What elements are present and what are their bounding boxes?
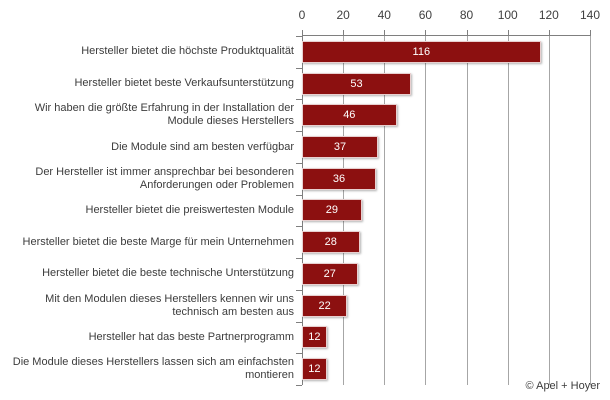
- category-label: Der Hersteller ist immer ansprechbar bei…: [6, 163, 294, 195]
- bar-row: Hersteller bietet die höchste Produktqua…: [0, 36, 610, 68]
- bar-row: Hersteller hat das beste Partnerprogramm…: [0, 322, 610, 354]
- bar-row: Wir haben die größte Erfahrung in der In…: [0, 99, 610, 131]
- category-label: Hersteller bietet beste Verkaufsunterstü…: [6, 68, 294, 100]
- bar-value-label: 28: [325, 236, 337, 248]
- category-label-text: Der Hersteller ist immer ansprechbar bei…: [6, 166, 294, 192]
- x-tick-label: 140: [580, 8, 600, 22]
- bar-row: Hersteller bietet die preiswertesten Mod…: [0, 195, 610, 227]
- bar-value-label: 53: [350, 78, 362, 90]
- category-label-text: Hersteller bietet die beste technische U…: [42, 267, 294, 280]
- x-tick-label: 100: [498, 8, 518, 22]
- bar-value-label: 116: [413, 46, 431, 58]
- category-label: Hersteller bietet die höchste Produktqua…: [6, 36, 294, 68]
- bar-row: Hersteller bietet die beste technische U…: [0, 258, 610, 290]
- category-label: Wir haben die größte Erfahrung in der In…: [6, 99, 294, 131]
- bar-row: Die Module sind am besten verfügbar37: [0, 131, 610, 163]
- bar-chart: 020406080100120140 Hersteller bietet die…: [0, 0, 610, 400]
- bar-value-label: 37: [334, 141, 346, 153]
- category-label: Die Module sind am besten verfügbar: [6, 131, 294, 163]
- x-tick-label: 120: [539, 8, 559, 22]
- bar-value-label: 22: [319, 300, 331, 312]
- category-label: Hersteller bietet die preiswertesten Mod…: [6, 195, 294, 227]
- credit-text: © Apel + Hoyer: [526, 380, 600, 392]
- category-label: Hersteller hat das beste Partnerprogramm: [6, 322, 294, 354]
- x-tick-label: 0: [299, 8, 306, 22]
- bar-row: Mit den Modulen dieses Herstellers kenne…: [0, 290, 610, 322]
- category-label-text: Hersteller hat das beste Partnerprogramm: [89, 331, 294, 344]
- x-tick-label: 20: [336, 8, 349, 22]
- category-label-text: Hersteller bietet beste Verkaufsunterstü…: [74, 77, 294, 90]
- category-label-text: Die Module dieses Herstellers lassen sic…: [6, 356, 294, 382]
- x-tick-label: 80: [460, 8, 473, 22]
- x-tick-label: 60: [419, 8, 432, 22]
- x-tick-label: 40: [378, 8, 391, 22]
- bar-value-label: 29: [326, 204, 338, 216]
- category-tick-mark: [296, 385, 302, 386]
- category-label: Hersteller bietet die beste Marge für me…: [6, 226, 294, 258]
- category-label: Hersteller bietet die beste technische U…: [6, 258, 294, 290]
- category-label-text: Die Module sind am besten verfügbar: [111, 141, 294, 154]
- category-label-text: Hersteller bietet die preiswertesten Mod…: [86, 204, 295, 217]
- bar-row: Der Hersteller ist immer ansprechbar bei…: [0, 163, 610, 195]
- bar-value-label: 46: [343, 109, 355, 121]
- bar-row: Die Module dieses Herstellers lassen sic…: [0, 353, 610, 385]
- bar-row: Hersteller bietet beste Verkaufsunterstü…: [0, 68, 610, 100]
- bar-value-label: 12: [308, 363, 320, 375]
- category-label-text: Hersteller bietet die höchste Produktqua…: [81, 45, 294, 58]
- category-label-text: Mit den Modulen dieses Herstellers kenne…: [6, 293, 294, 319]
- category-label: Mit den Modulen dieses Herstellers kenne…: [6, 290, 294, 322]
- category-label: Die Module dieses Herstellers lassen sic…: [6, 353, 294, 385]
- category-label-text: Hersteller bietet die beste Marge für me…: [23, 236, 294, 249]
- category-label-text: Wir haben die größte Erfahrung in der In…: [6, 102, 294, 128]
- bar-value-label: 36: [333, 173, 345, 185]
- bar-value-label: 27: [324, 268, 336, 280]
- bar-value-label: 12: [308, 331, 320, 343]
- bar-row: Hersteller bietet die beste Marge für me…: [0, 226, 610, 258]
